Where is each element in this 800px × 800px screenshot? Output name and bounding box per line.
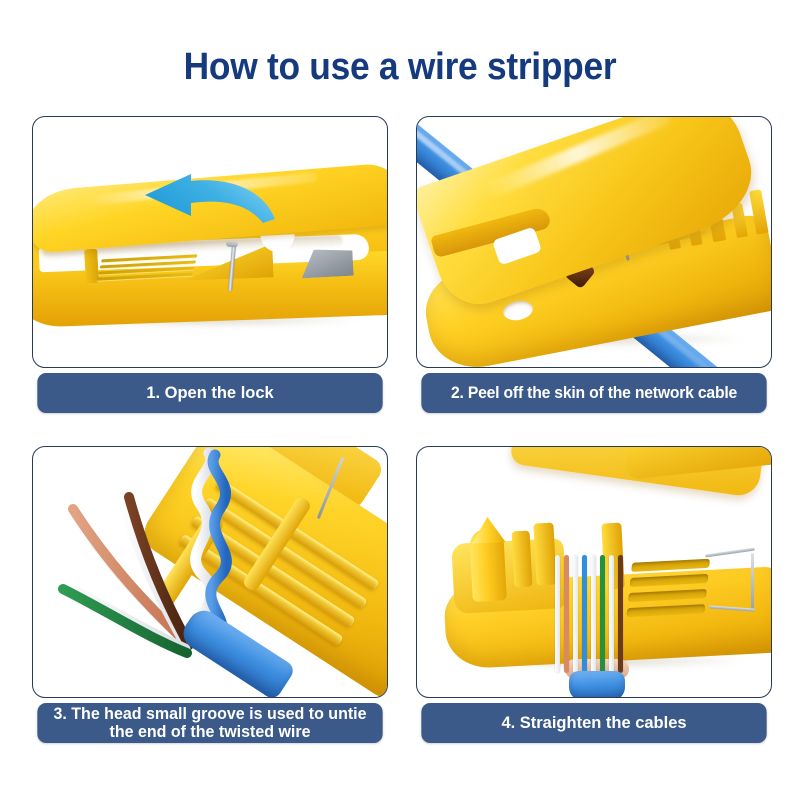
tool-post-a	[512, 531, 533, 588]
step-panel-4: 4. Straighten the cables	[416, 446, 772, 743]
step-1-caption: 1. Open the lock	[37, 373, 382, 413]
step-panel-3: 3. The head small groove is used to unti…	[32, 446, 388, 743]
tool-cone-spike-tip	[470, 516, 505, 544]
straightened-wire-row	[555, 555, 645, 687]
infographic-page: How to use a wire stripper	[0, 0, 800, 800]
step-3-caption: 3. The head small groove is used to unti…	[37, 703, 382, 743]
wire-blue	[582, 555, 587, 673]
upper-jaw-highlight	[483, 117, 673, 200]
wire-white-green	[591, 555, 596, 673]
steps-grid: 1. Open the lock	[32, 116, 772, 761]
wire-brown	[618, 555, 623, 673]
open-lock-arrow-wrapper	[125, 173, 277, 225]
step-3-image-frame	[32, 446, 388, 698]
stripper-gripping-cable-illustration	[417, 117, 771, 367]
tool-comb-slots	[96, 252, 198, 283]
wire-white-blue	[573, 555, 578, 673]
straightened-wires-illustration	[417, 447, 771, 697]
page-title: How to use a wire stripper	[28, 46, 772, 89]
step-panel-1: 1. Open the lock	[32, 116, 388, 413]
metal-pin-head	[226, 240, 238, 247]
wire-white-orange	[555, 555, 560, 673]
curved-left-arrow-icon	[125, 173, 277, 225]
step-4-caption: 4. Straighten the cables	[421, 703, 766, 743]
tool-post-b	[533, 523, 556, 586]
wire-orange	[564, 555, 569, 673]
metal-wire-clip	[705, 551, 759, 613]
untwisting-pairs-illustration	[33, 447, 387, 697]
step-4-image-frame	[416, 446, 772, 698]
wire-white-brown	[609, 555, 614, 673]
blue-cable-sheath	[569, 671, 625, 697]
wire-stripper-side-view-illustration	[33, 117, 387, 367]
step-1-image-frame	[32, 116, 388, 368]
step-2-image-frame	[416, 116, 772, 368]
step-panel-2: 2. Peel off the skin of the network cabl…	[416, 116, 772, 413]
step-2-caption: 2. Peel off the skin of the network cabl…	[421, 373, 766, 413]
wire-green	[600, 555, 605, 673]
